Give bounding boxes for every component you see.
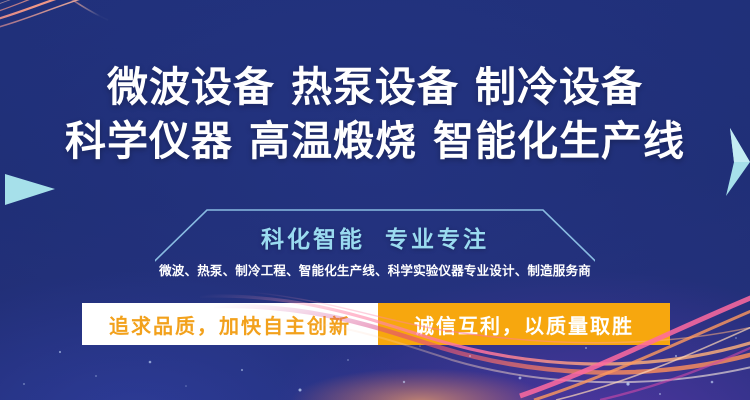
headline-line2-part3: 智能化生产线 [433,118,685,164]
description-text: 微波、热泵、制冷工程、智能化生产线、科学实验仪器专业设计、制造服务商 [145,263,605,279]
subtitle-frame: 科化智能专业专注 微波、热泵、制冷工程、智能化生产线、科学实验仪器专业设计、制造… [155,208,595,290]
headline-line2-part1: 科学仪器 [65,118,233,164]
page-title: 微波设备热泵设备制冷设备 科学仪器高温煅烧智能化生产线 [0,60,750,168]
headline-line2-part2: 高温煅烧 [249,118,417,164]
headline-line1-part2: 热泵设备 [291,64,459,110]
headline-line1-part1: 微波设备 [107,64,275,110]
triangle-accent-left-icon [5,174,55,205]
subtitle-left: 科化智能 [261,226,365,252]
subtitle-right: 专业专注 [385,226,489,252]
headline-line1-part3: 制冷设备 [475,64,643,110]
promotional-banner: 微波设备热泵设备制冷设备 科学仪器高温煅烧智能化生产线 科化智能专业专注 微波、… [0,0,750,400]
light-streak-bottom-icon [0,290,750,400]
headline-line-2: 科学仪器高温煅烧智能化生产线 [0,114,750,168]
subtitle: 科化智能专业专注 [155,224,595,254]
headline-line-1: 微波设备热泵设备制冷设备 [0,60,750,114]
